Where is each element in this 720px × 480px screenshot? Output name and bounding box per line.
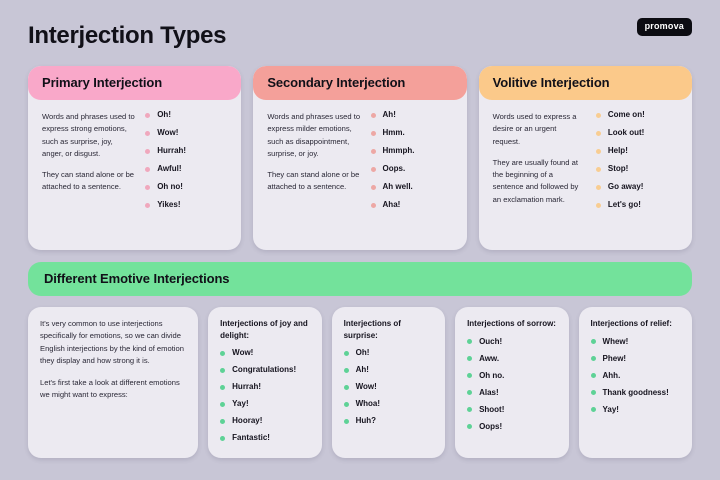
bullet-dot-icon <box>591 390 596 395</box>
emotive-banner: Different Emotive Interjections <box>28 262 692 296</box>
list-item: Oh no! <box>145 183 229 191</box>
bullet-dot-icon <box>467 390 472 395</box>
type-card: Volitive InterjectionWords used to expre… <box>479 66 692 250</box>
bullet-dot-icon <box>145 131 150 136</box>
list-item: Oops. <box>371 165 455 173</box>
bullet-dot-icon <box>467 424 472 429</box>
bullet-dot-icon <box>220 402 225 407</box>
type-card-title: Volitive Interjection <box>479 66 692 100</box>
list-item-label: Wow! <box>356 383 377 391</box>
list-item: Yikes! <box>145 201 229 209</box>
emotive-groups-row: It's very common to use interjections sp… <box>28 307 692 458</box>
list-item-label: Congratulations! <box>232 366 296 374</box>
list-item-label: Yay! <box>232 400 248 408</box>
list-item-label: Ouch! <box>479 338 502 346</box>
bullet-dot-icon <box>344 368 349 373</box>
emotion-group-title: Interjections of surprise: <box>344 318 435 341</box>
header-bar: Interjection Types promova <box>28 18 692 60</box>
list-item: Hmmph. <box>371 147 455 155</box>
list-item-label: Help! <box>608 147 628 155</box>
bullet-dot-icon <box>371 185 376 190</box>
list-item: Ouch! <box>467 338 558 346</box>
list-item: Yay! <box>220 400 311 408</box>
bullet-dot-icon <box>145 185 150 190</box>
list-item: Congratulations! <box>220 366 311 374</box>
list-item: Hurrah! <box>220 383 311 391</box>
infographic-page: Interjection Types promova Primary Inter… <box>0 0 720 480</box>
type-card-paragraph: Words and phrases used to express milder… <box>267 111 360 160</box>
list-item: Come on! <box>596 111 680 119</box>
type-card-paragraph: They are usually found at the beginning … <box>493 157 586 206</box>
list-item: Hurrah! <box>145 147 229 155</box>
emotion-group-title: Interjections of sorrow: <box>467 318 558 330</box>
list-item-label: Stop! <box>608 165 628 173</box>
list-item: Let's go! <box>596 201 680 209</box>
emotion-group-list: Oh!Ah!Wow!Whoa!Huh? <box>344 349 435 434</box>
list-item: Phew! <box>591 355 682 363</box>
bullet-dot-icon <box>596 113 601 118</box>
list-item-label: Let's go! <box>608 201 641 209</box>
bullet-dot-icon <box>596 185 601 190</box>
emotion-group-card: Interjections of relief:Whew!Phew!Ahh.Th… <box>579 307 692 458</box>
list-item-label: Wow! <box>232 349 253 357</box>
list-item: Ah! <box>344 366 435 374</box>
bullet-dot-icon <box>371 113 376 118</box>
type-card-description: Words used to express a desire or an urg… <box>493 111 586 240</box>
page-title: Interjection Types <box>28 24 226 48</box>
list-item-label: Come on! <box>608 111 645 119</box>
list-item-label: Shoot! <box>479 406 504 414</box>
list-item-label: Fantastic! <box>232 434 270 442</box>
type-card: Primary InterjectionWords and phrases us… <box>28 66 241 250</box>
list-item-label: Aha! <box>383 201 401 209</box>
list-item: Awful! <box>145 165 229 173</box>
list-item: Help! <box>596 147 680 155</box>
list-item: Wow! <box>220 349 311 357</box>
emotion-group-title: Interjections of relief: <box>591 318 682 330</box>
list-item: Aww. <box>467 355 558 363</box>
list-item: Aha! <box>371 201 455 209</box>
list-item-label: Oh! <box>356 349 370 357</box>
emotion-group-list: Wow!Congratulations!Hurrah!Yay!Hooray!Fa… <box>220 349 311 451</box>
emotion-group-card: Interjections of joy and delight:Wow!Con… <box>208 307 321 458</box>
list-item: Yay! <box>591 406 682 414</box>
emotion-group-list: Ouch!Aww.Oh no.Alas!Shoot!Oops! <box>467 338 558 440</box>
list-item-label: Phew! <box>603 355 627 363</box>
emotion-group-card: Interjections of sorrow:Ouch!Aww.Oh no.A… <box>455 307 568 458</box>
bullet-dot-icon <box>591 373 596 378</box>
bullet-dot-icon <box>145 149 150 154</box>
list-item-label: Huh? <box>356 417 376 425</box>
list-item: Oh no. <box>467 372 558 380</box>
type-card-title: Primary Interjection <box>28 66 241 100</box>
type-card-paragraph: They can stand alone or be attached to a… <box>42 169 135 194</box>
emotive-intro-paragraph: Let's first take a look at different emo… <box>40 377 188 402</box>
list-item-label: Hooray! <box>232 417 262 425</box>
interjection-types-row: Primary InterjectionWords and phrases us… <box>28 66 692 250</box>
list-item: Alas! <box>467 389 558 397</box>
emotion-group-card: Interjections of surprise:Oh!Ah!Wow!Whoa… <box>332 307 445 458</box>
list-item: Whoa! <box>344 400 435 408</box>
promova-logo: promova <box>637 18 692 36</box>
bullet-dot-icon <box>145 113 150 118</box>
bullet-dot-icon <box>371 203 376 208</box>
bullet-dot-icon <box>596 167 601 172</box>
bullet-dot-icon <box>371 131 376 136</box>
list-item-label: Oops. <box>383 165 406 173</box>
list-item: Oops! <box>467 423 558 431</box>
list-item-label: Aww. <box>479 355 499 363</box>
list-item: Hmm. <box>371 129 455 137</box>
list-item-label: Yay! <box>603 406 619 414</box>
bullet-dot-icon <box>344 402 349 407</box>
bullet-dot-icon <box>591 356 596 361</box>
list-item: Huh? <box>344 417 435 425</box>
list-item: Ah well. <box>371 183 455 191</box>
list-item: Whew! <box>591 338 682 346</box>
list-item-label: Yikes! <box>157 201 180 209</box>
list-item-label: Whoa! <box>356 400 380 408</box>
type-card-paragraph: Words and phrases used to express strong… <box>42 111 135 160</box>
list-item: Fantastic! <box>220 434 311 442</box>
list-item: Ahh. <box>591 372 682 380</box>
type-card-body: Words used to express a desire or an urg… <box>479 100 692 250</box>
list-item: Hooray! <box>220 417 311 425</box>
list-item-label: Ah well. <box>383 183 413 191</box>
bullet-dot-icon <box>467 356 472 361</box>
bullet-dot-icon <box>467 339 472 344</box>
list-item: Go away! <box>596 183 680 191</box>
bullet-dot-icon <box>596 131 601 136</box>
bullet-dot-icon <box>467 407 472 412</box>
list-item-label: Oh no! <box>157 183 183 191</box>
list-item-label: Hmmph. <box>383 147 415 155</box>
type-card-description: Words and phrases used to express strong… <box>42 111 135 240</box>
bullet-dot-icon <box>344 385 349 390</box>
bullet-dot-icon <box>371 167 376 172</box>
bullet-dot-icon <box>371 149 376 154</box>
emotive-intro-card: It's very common to use interjections sp… <box>28 307 198 458</box>
list-item-label: Wow! <box>157 129 178 137</box>
bullet-dot-icon <box>467 373 472 378</box>
list-item-label: Awful! <box>157 165 181 173</box>
type-card-body: Words and phrases used to express strong… <box>28 100 241 250</box>
list-item-label: Oh no. <box>479 372 504 380</box>
list-item-label: Ah! <box>356 366 369 374</box>
list-item: Oh! <box>344 349 435 357</box>
bullet-dot-icon <box>220 436 225 441</box>
list-item-label: Hurrah! <box>157 147 186 155</box>
list-item-label: Ah! <box>383 111 396 119</box>
list-item-label: Alas! <box>479 389 499 397</box>
type-card-paragraph: They can stand alone or be attached to a… <box>267 169 360 194</box>
list-item: Oh! <box>145 111 229 119</box>
type-card-example-list: Ah!Hmm.Hmmph.Oops.Ah well.Aha! <box>369 111 455 240</box>
list-item-label: Oh! <box>157 111 171 119</box>
list-item: Thank goodness! <box>591 389 682 397</box>
type-card-example-list: Oh!Wow!Hurrah!Awful!Oh no!Yikes! <box>143 111 229 240</box>
list-item-label: Whew! <box>603 338 629 346</box>
type-card-paragraph: Words used to express a desire or an urg… <box>493 111 586 148</box>
emotive-intro-paragraph: It's very common to use interjections sp… <box>40 318 188 367</box>
list-item: Stop! <box>596 165 680 173</box>
list-item: Wow! <box>344 383 435 391</box>
bullet-dot-icon <box>591 407 596 412</box>
type-card-description: Words and phrases used to express milder… <box>267 111 360 240</box>
list-item-label: Look out! <box>608 129 644 137</box>
bullet-dot-icon <box>596 149 601 154</box>
list-item: Shoot! <box>467 406 558 414</box>
list-item-label: Ahh. <box>603 372 621 380</box>
bullet-dot-icon <box>220 385 225 390</box>
emotion-group-list: Whew!Phew!Ahh.Thank goodness!Yay! <box>591 338 682 423</box>
type-card-example-list: Come on!Look out!Help!Stop!Go away!Let's… <box>594 111 680 240</box>
type-card-body: Words and phrases used to express milder… <box>253 100 466 250</box>
list-item: Look out! <box>596 129 680 137</box>
bullet-dot-icon <box>220 351 225 356</box>
type-card-title: Secondary Interjection <box>253 66 466 100</box>
bullet-dot-icon <box>220 368 225 373</box>
bullet-dot-icon <box>344 351 349 356</box>
list-item-label: Go away! <box>608 183 644 191</box>
bullet-dot-icon <box>344 419 349 424</box>
bullet-dot-icon <box>220 419 225 424</box>
emotive-banner-title: Different Emotive Interjections <box>44 271 229 286</box>
list-item-label: Thank goodness! <box>603 389 669 397</box>
list-item: Ah! <box>371 111 455 119</box>
bullet-dot-icon <box>591 339 596 344</box>
type-card: Secondary InterjectionWords and phrases … <box>253 66 466 250</box>
emotion-group-title: Interjections of joy and delight: <box>220 318 311 341</box>
list-item-label: Hurrah! <box>232 383 261 391</box>
list-item-label: Oops! <box>479 423 502 431</box>
list-item: Wow! <box>145 129 229 137</box>
bullet-dot-icon <box>596 203 601 208</box>
list-item-label: Hmm. <box>383 129 405 137</box>
bullet-dot-icon <box>145 167 150 172</box>
bullet-dot-icon <box>145 203 150 208</box>
